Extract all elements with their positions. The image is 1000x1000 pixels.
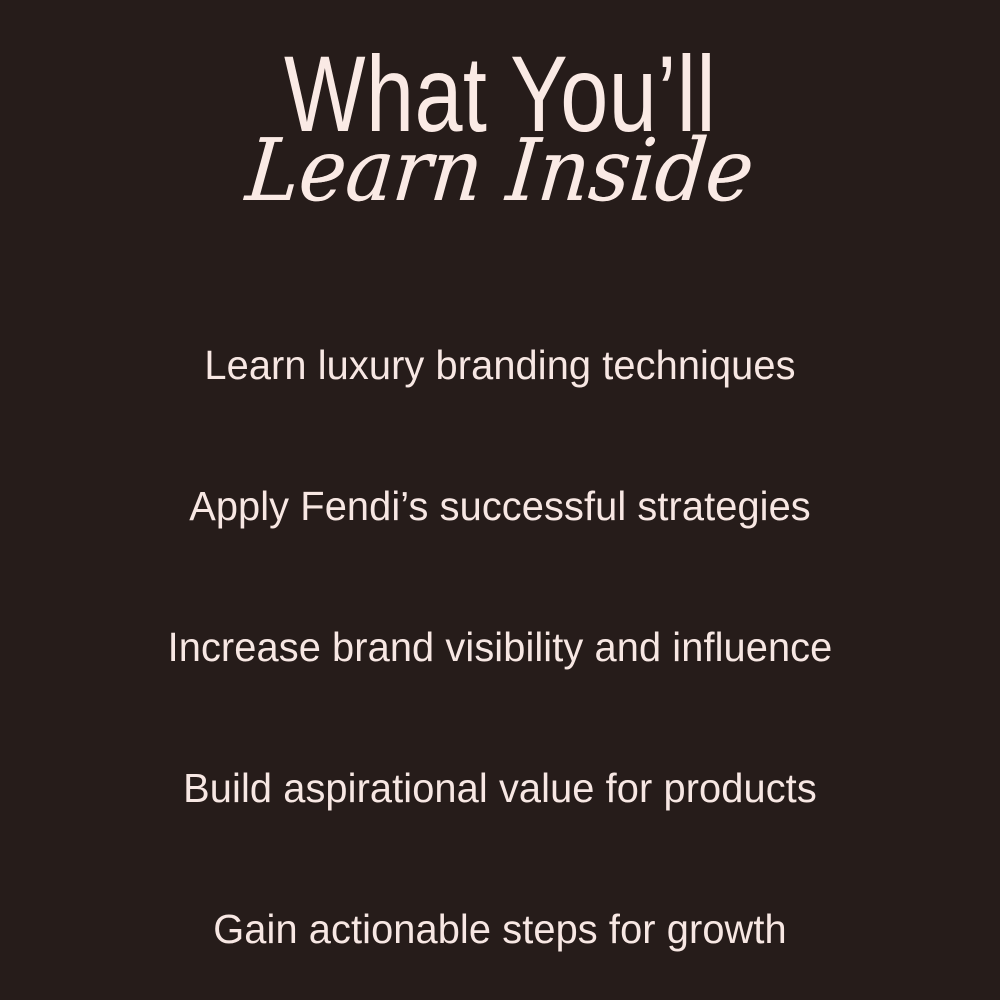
list-item: Build aspirational value for products: [15, 718, 985, 859]
slide-canvas: What You’ll Learn Inside Learn luxury br…: [0, 0, 1000, 1000]
benefits-list: Learn luxury branding techniques Apply F…: [0, 295, 1000, 1000]
list-item: Increase brand visibility and influence: [15, 577, 985, 718]
page-title: What You’ll Learn Inside: [0, 40, 1000, 233]
list-item: Apply Fendi’s successful strategies: [15, 436, 985, 577]
heading-line-script: Learn Inside: [36, 128, 964, 214]
list-item: Learn luxury branding techniques: [15, 295, 985, 436]
list-item: Gain actionable steps for growth: [15, 859, 985, 1000]
